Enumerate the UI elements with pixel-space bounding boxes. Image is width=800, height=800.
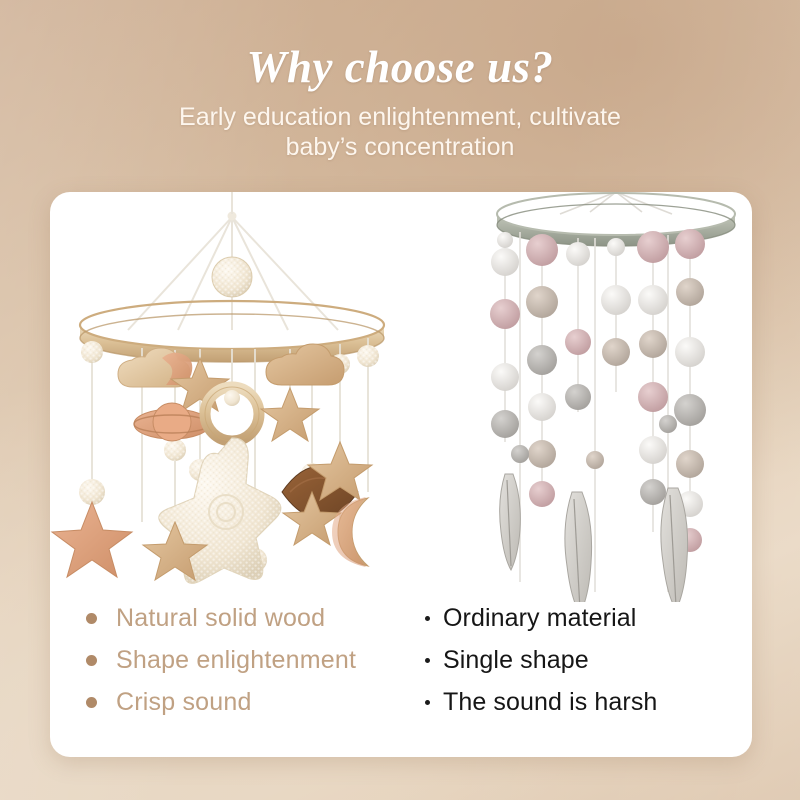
crochet-ball xyxy=(164,439,186,461)
list-item: Ordinary material xyxy=(425,597,745,639)
wooden-star xyxy=(52,502,132,577)
felt-ball xyxy=(528,440,556,468)
subtitle-line-2: baby’s concentration xyxy=(0,132,800,162)
ordinary-feature-list: Ordinary material Single shape The sound… xyxy=(425,597,745,723)
felt-ball xyxy=(676,278,704,306)
crochet-ball xyxy=(357,345,379,367)
felt-feather xyxy=(565,492,592,602)
felt-ball xyxy=(491,363,519,391)
felt-ball xyxy=(497,232,513,248)
premium-feature-list: Natural solid wood Shape enlightenment C… xyxy=(86,597,416,723)
felt-ball xyxy=(491,248,519,276)
list-item-label: Ordinary material xyxy=(443,604,636,633)
felt-ball xyxy=(565,329,591,355)
crochet-ball xyxy=(212,257,252,297)
header: Why choose us? Early education enlighten… xyxy=(0,0,800,162)
felt-ball xyxy=(639,436,667,464)
list-item-label: Single shape xyxy=(443,646,589,675)
bullet-dot-icon xyxy=(425,700,430,705)
felt-ball xyxy=(676,450,704,478)
wooden-star xyxy=(261,388,319,441)
felt-ball xyxy=(637,231,669,263)
bullet-dot-icon xyxy=(425,616,430,621)
list-item-label: Shape enlightenment xyxy=(116,646,356,675)
felt-ball xyxy=(527,345,557,375)
felt-feather xyxy=(500,474,521,570)
bullet-dot-icon xyxy=(86,697,97,708)
felt-feather xyxy=(661,488,688,602)
page-title: Why choose us? xyxy=(0,45,800,90)
felt-ball xyxy=(601,285,631,315)
wooden-mobile-illustration xyxy=(52,192,384,583)
feature-comparison-lists: Natural solid wood Shape enlightenment C… xyxy=(50,597,752,757)
felt-ball xyxy=(529,481,555,507)
comparison-card: Natural solid wood Shape enlightenment C… xyxy=(50,192,752,757)
felt-ball xyxy=(566,242,590,266)
felt-ball-mobile-illustration xyxy=(490,192,748,602)
felt-ball xyxy=(511,445,529,463)
felt-ball xyxy=(586,451,604,469)
felt-ball xyxy=(607,238,625,256)
felt-ball xyxy=(528,393,556,421)
list-item-label: Natural solid wood xyxy=(116,604,325,633)
felt-ball xyxy=(675,337,705,367)
list-item: Crisp sound xyxy=(86,681,416,723)
product-images-stage xyxy=(50,192,752,602)
felt-ball xyxy=(640,479,666,505)
list-item-label: The sound is harsh xyxy=(443,688,657,717)
felt-ball xyxy=(639,330,667,358)
felt-ball xyxy=(674,394,706,426)
bullet-dot-icon xyxy=(86,655,97,666)
bullet-dot-icon xyxy=(86,613,97,624)
teething-ring xyxy=(205,387,259,441)
list-item-label: Crisp sound xyxy=(116,688,252,717)
crochet-ball xyxy=(81,341,103,363)
bullet-dot-icon xyxy=(425,658,430,663)
felt-feather xyxy=(728,478,749,574)
list-item: The sound is harsh xyxy=(425,681,745,723)
felt-ball xyxy=(675,229,705,259)
felt-ball xyxy=(659,415,677,433)
wooden-planet xyxy=(134,403,210,441)
felt-ball xyxy=(565,384,591,410)
felt-ball xyxy=(526,234,558,266)
felt-ball xyxy=(602,338,630,366)
felt-ball xyxy=(638,382,668,412)
felt-ball xyxy=(490,299,520,329)
subtitle-line-1: Early education enlightenment, cultivate xyxy=(0,102,800,132)
felt-ball xyxy=(491,410,519,438)
felt-ball xyxy=(526,286,558,318)
page-subtitle: Early education enlightenment, cultivate… xyxy=(0,102,800,162)
list-item: Natural solid wood xyxy=(86,597,416,639)
felt-ball xyxy=(638,285,668,315)
list-item: Shape enlightenment xyxy=(86,639,416,681)
list-item: Single shape xyxy=(425,639,745,681)
